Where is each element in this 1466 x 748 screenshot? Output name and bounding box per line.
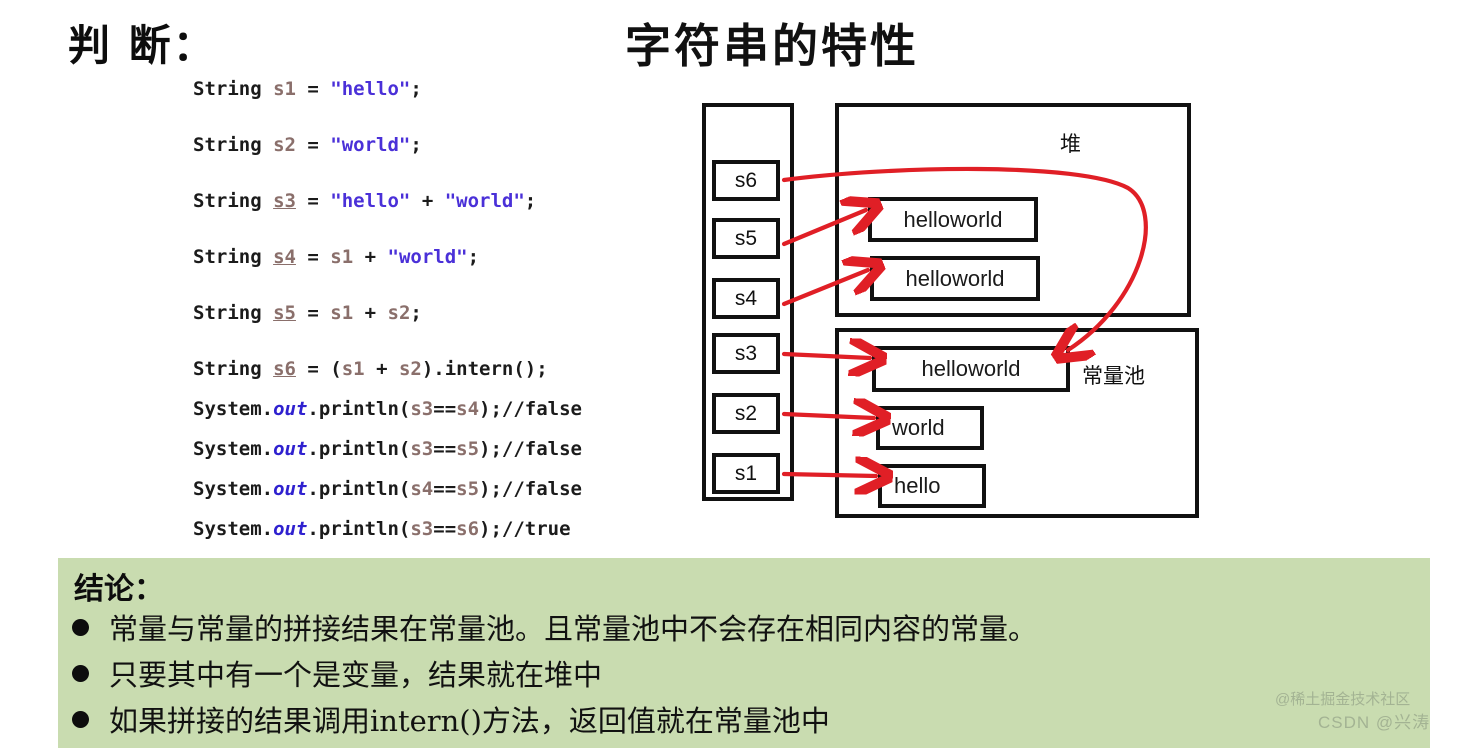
code-token: =	[296, 302, 330, 324]
code-token: s2	[388, 302, 411, 324]
conclusion-bullet-1: 常量与常量的拼接结果在常量池。且常量池中不会存在相同内容的常量。	[72, 606, 1037, 648]
arrow-s3-to-pool	[784, 354, 870, 358]
code-token: s3	[273, 190, 296, 212]
code-token: s1	[330, 246, 353, 268]
code-token: String	[193, 190, 273, 212]
arrow-s2-to-pool	[784, 414, 874, 418]
code-token: = (	[296, 358, 342, 380]
code-token: =	[296, 190, 330, 212]
code-token: String	[193, 246, 273, 268]
reference-arrows	[690, 92, 1220, 522]
conclusion-bullet-3-text: 如果拼接的结果调用intern()方法，返回值就在常量池中	[109, 698, 830, 740]
conclusion-title: 结论：	[74, 564, 164, 608]
code-token: //false	[502, 478, 582, 500]
code-token: s5	[273, 302, 296, 324]
code-token: s1	[330, 302, 353, 324]
bullet-dot-icon	[72, 711, 89, 728]
watermark-juejin: @稀土掘金技术社区	[1275, 688, 1410, 709]
code-line: String s3 = "hello" + "world";	[193, 192, 663, 218]
code-token: s1	[342, 358, 365, 380]
conclusion-bullet-3: 如果拼接的结果调用intern()方法，返回值就在常量池中	[72, 698, 830, 740]
code-token: ;	[468, 246, 479, 268]
code-token: System.	[193, 518, 273, 540]
code-token: ;	[525, 190, 536, 212]
page-title: 字符串的特性	[625, 10, 919, 76]
code-token: out	[273, 398, 307, 420]
code-token: "hello"	[330, 78, 410, 100]
arrow-s1-to-pool	[784, 474, 876, 476]
code-line: System.out.println(s3==s4);//false	[193, 400, 663, 426]
code-token: s3	[410, 438, 433, 460]
code-line: String s5 = s1 + s2;	[193, 304, 663, 330]
code-block: String s1 = "hello";String s2 = "world";…	[193, 80, 663, 560]
code-token: ;	[410, 302, 421, 324]
slide-canvas: 判 断： 字符串的特性 String s1 = "hello";String s…	[0, 0, 1466, 748]
code-token: );	[479, 438, 502, 460]
code-token: .println(	[307, 438, 410, 460]
code-token: ).intern();	[422, 358, 548, 380]
code-token: =	[296, 78, 330, 100]
code-line: String s1 = "hello";	[193, 80, 663, 106]
code-token: +	[353, 302, 387, 324]
conclusion-bullet-1-text: 常量与常量的拼接结果在常量池。且常量池中不会存在相同内容的常量。	[109, 606, 1037, 648]
code-token: s5	[456, 478, 479, 500]
code-token: =	[296, 134, 330, 156]
conclusion-bullet-2: 只要其中有一个是变量，结果就在堆中	[72, 652, 602, 694]
conclusion-panel: 结论： 常量与常量的拼接结果在常量池。且常量池中不会存在相同内容的常量。 只要其…	[58, 558, 1430, 748]
code-line: System.out.println(s3==s5);//false	[193, 440, 663, 466]
code-token: String	[193, 358, 273, 380]
code-token: s3	[410, 398, 433, 420]
code-token: s6	[273, 358, 296, 380]
code-token: +	[365, 358, 399, 380]
arrow-s5-to-heap	[784, 210, 866, 244]
code-token: String	[193, 302, 273, 324]
code-token: ==	[433, 398, 456, 420]
code-token: .println(	[307, 478, 410, 500]
arrow-s4-to-heap	[784, 270, 868, 304]
code-token: s2	[399, 358, 422, 380]
code-token: s2	[273, 134, 296, 156]
code-token: //true	[502, 518, 571, 540]
code-token: System.	[193, 438, 273, 460]
watermark-csdn: CSDN @兴涛	[1318, 708, 1430, 733]
code-line: String s6 = (s1 + s2).intern();	[193, 360, 663, 386]
code-token: System.	[193, 478, 273, 500]
judge-heading: 判 断：	[68, 12, 217, 73]
code-token: );	[479, 398, 502, 420]
code-token: +	[410, 190, 444, 212]
code-token: out	[273, 478, 307, 500]
conclusion-bullet-2-text: 只要其中有一个是变量，结果就在堆中	[109, 652, 602, 694]
code-token: );	[479, 518, 502, 540]
bullet-dot-icon	[72, 619, 89, 636]
code-token: ;	[410, 78, 421, 100]
code-token: "hello"	[330, 190, 410, 212]
code-token: s5	[456, 438, 479, 460]
bullet-dot-icon	[72, 665, 89, 682]
code-token: String	[193, 78, 273, 100]
code-token: out	[273, 438, 307, 460]
code-line: System.out.println(s3==s6);//true	[193, 520, 663, 546]
code-token: .println(	[307, 518, 410, 540]
arrow-s6-to-pool	[784, 169, 1146, 350]
code-token: s4	[410, 478, 433, 500]
code-token: s6	[456, 518, 479, 540]
code-token: s3	[410, 518, 433, 540]
code-token: ==	[433, 478, 456, 500]
code-token: +	[353, 246, 387, 268]
code-token: String	[193, 134, 273, 156]
code-token: s4	[273, 246, 296, 268]
code-token: ==	[433, 438, 456, 460]
code-token: s1	[273, 78, 296, 100]
code-token: System.	[193, 398, 273, 420]
memory-model-diagram: 堆 常量池 s6s5s4s3s2s1 helloworldhelloworld …	[690, 92, 1220, 522]
code-token: ;	[410, 134, 421, 156]
code-line: String s4 = s1 + "world";	[193, 248, 663, 274]
code-token: out	[273, 518, 307, 540]
code-token: //false	[502, 438, 582, 460]
code-token: "world"	[388, 246, 468, 268]
code-token: "world"	[330, 134, 410, 156]
code-token: ==	[433, 518, 456, 540]
code-token: s4	[456, 398, 479, 420]
code-token: .println(	[307, 398, 410, 420]
code-token: =	[296, 246, 330, 268]
code-token: //false	[502, 398, 582, 420]
code-token: );	[479, 478, 502, 500]
code-token: "world"	[445, 190, 525, 212]
code-line: String s2 = "world";	[193, 136, 663, 162]
code-line: System.out.println(s4==s5);//false	[193, 480, 663, 506]
